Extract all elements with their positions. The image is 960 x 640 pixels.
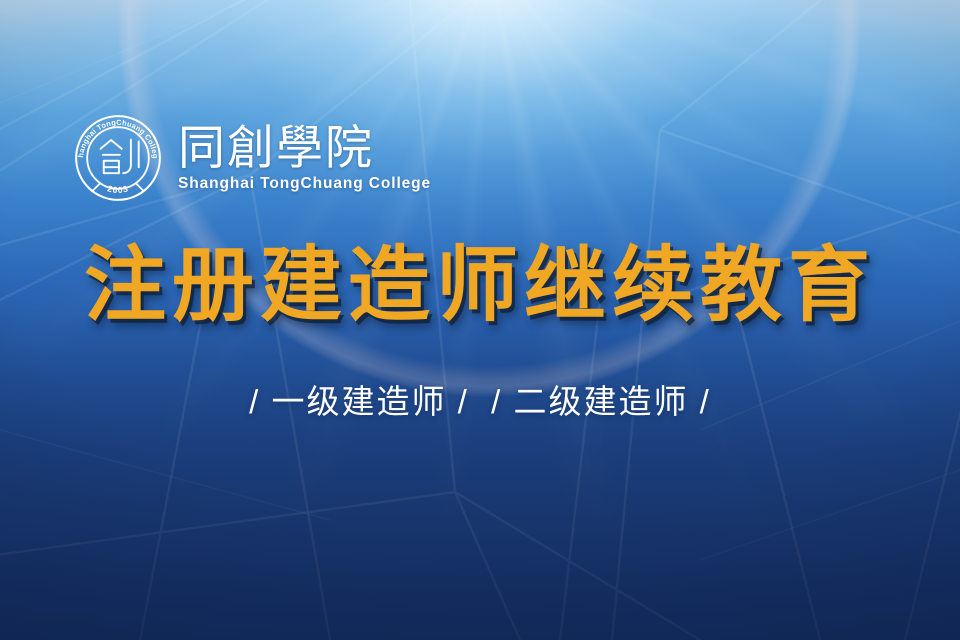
page-subtitle: / 一级建造师 / / 二级建造师 / — [0, 381, 960, 422]
logo-wordmark: 同創學院 Shanghai TongChuang College — [178, 124, 431, 192]
banner-canvas: Shanghai TongChuang College 2003 同創學院 — [0, 0, 960, 640]
svg-text:Shanghai TongChuang College: Shanghai TongChuang College — [72, 112, 160, 159]
logo-name-en: Shanghai TongChuang College — [178, 175, 431, 192]
logo-name-cn: 同創學院 — [178, 124, 431, 171]
logo-lockup: Shanghai TongChuang College 2003 同創學院 — [72, 112, 431, 204]
svg-text:2003: 2003 — [106, 183, 130, 195]
page-title: 注册建造师继续教育 — [0, 245, 960, 327]
college-seal-icon: Shanghai TongChuang College 2003 — [72, 112, 164, 204]
